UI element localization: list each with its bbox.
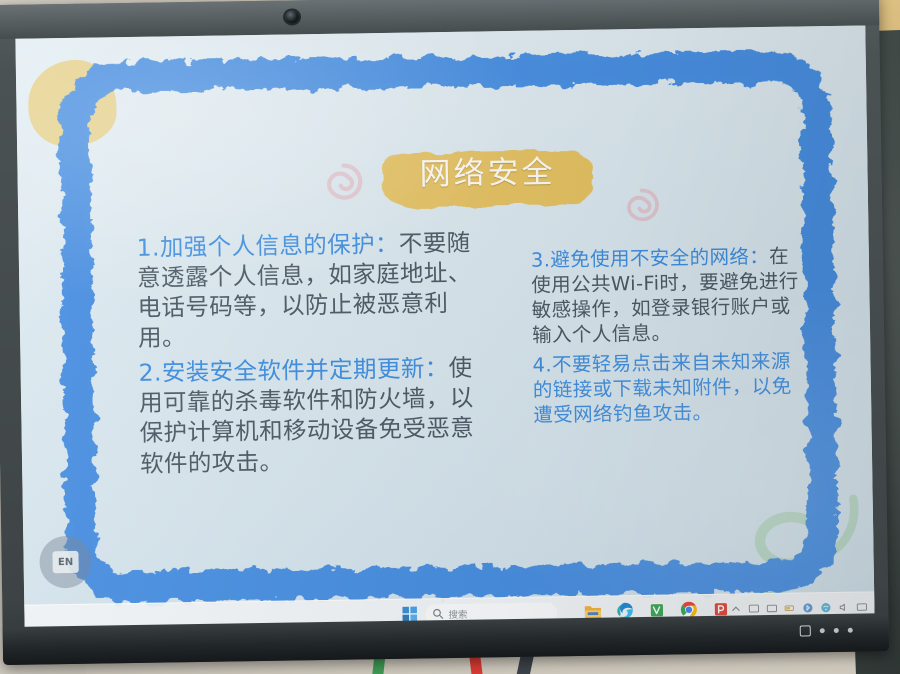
presentation-slide[interactable]: 网络安全 1.加强个人信息的保护：不要随意透露个人信息，如家庭地址、电话号码等，… bbox=[15, 25, 874, 634]
slide-right-column: 3.避免使用不安全的网络：在使用公共Wi-Fi时，要避免进行敏感操作，如登录银行… bbox=[531, 245, 802, 434]
wifi-icon[interactable] bbox=[820, 602, 831, 613]
bluetooth-icon[interactable] bbox=[802, 602, 813, 613]
device-hardware-buttons[interactable] bbox=[800, 625, 853, 637]
point-4-heading: 不要轻易点击来自未知来源的链接或下载未知附件，以免遭受网络钓鱼攻击。 bbox=[533, 349, 792, 426]
search-placeholder: 搜索 bbox=[448, 606, 467, 620]
slide-left-column: 1.加强个人信息的保护：不要随意透露个人信息，如家庭地址、电话号码等，以防止被恶… bbox=[136, 227, 488, 483]
point-3-heading: 避免使用不安全的网络： bbox=[550, 245, 769, 271]
slide-point-1: 1.加强个人信息的保护：不要随意透露个人信息，如家庭地址、电话号码等，以防止被恶… bbox=[136, 227, 486, 353]
point-4-number: 4. bbox=[532, 353, 552, 376]
monitor-icon[interactable] bbox=[856, 601, 867, 612]
search-icon bbox=[432, 608, 443, 619]
show-hidden-icons-icon[interactable] bbox=[730, 603, 741, 614]
slide-point-2: 2.安装安全软件并定期更新：使用可靠的杀毒软件和防火墙，以保护计算机和移动设备免… bbox=[138, 353, 488, 479]
screen[interactable]: 网络安全 1.加强个人信息的保护：不要随意透露个人信息，如家庭地址、电话号码等，… bbox=[15, 25, 874, 634]
power-button-icon[interactable] bbox=[800, 625, 811, 636]
start-button-icon[interactable] bbox=[402, 607, 417, 622]
point-2-heading: 安装安全软件并定期更新： bbox=[162, 354, 449, 387]
page-title: 网络安全 bbox=[377, 157, 597, 191]
battery-icon[interactable] bbox=[784, 603, 795, 614]
indicator-dot-icon bbox=[848, 628, 853, 633]
indicator-dot-icon bbox=[820, 628, 825, 633]
camera-icon bbox=[285, 10, 299, 23]
slide-title-banner: 网络安全 bbox=[377, 143, 598, 214]
interactive-display-device: 网络安全 1.加强个人信息的保护：不要随意透露个人信息，如家庭地址、电话号码等，… bbox=[0, 0, 900, 673]
slide-point-3: 3.避免使用不安全的网络：在使用公共Wi-Fi时，要避免进行敏感操作，如登录银行… bbox=[531, 245, 801, 349]
display-bezel: 网络安全 1.加强个人信息的保护：不要随意透露个人信息，如家庭地址、电话号码等，… bbox=[0, 0, 889, 665]
ime-label: EN bbox=[52, 551, 78, 573]
point-2-number: 2. bbox=[138, 359, 162, 387]
point-3-number: 3. bbox=[531, 248, 551, 271]
point-1-number: 1. bbox=[136, 234, 160, 262]
network-status-icon[interactable] bbox=[748, 603, 759, 614]
point-1-heading: 加强个人信息的保护： bbox=[160, 230, 399, 262]
volume-icon[interactable] bbox=[838, 602, 849, 613]
slide-point-4: 4.不要轻易点击来自未知来源的链接或下载未知附件，以免遭受网络钓鱼攻击。 bbox=[532, 349, 801, 428]
indicator-dot-icon bbox=[834, 628, 839, 633]
display-icon[interactable] bbox=[766, 603, 777, 614]
